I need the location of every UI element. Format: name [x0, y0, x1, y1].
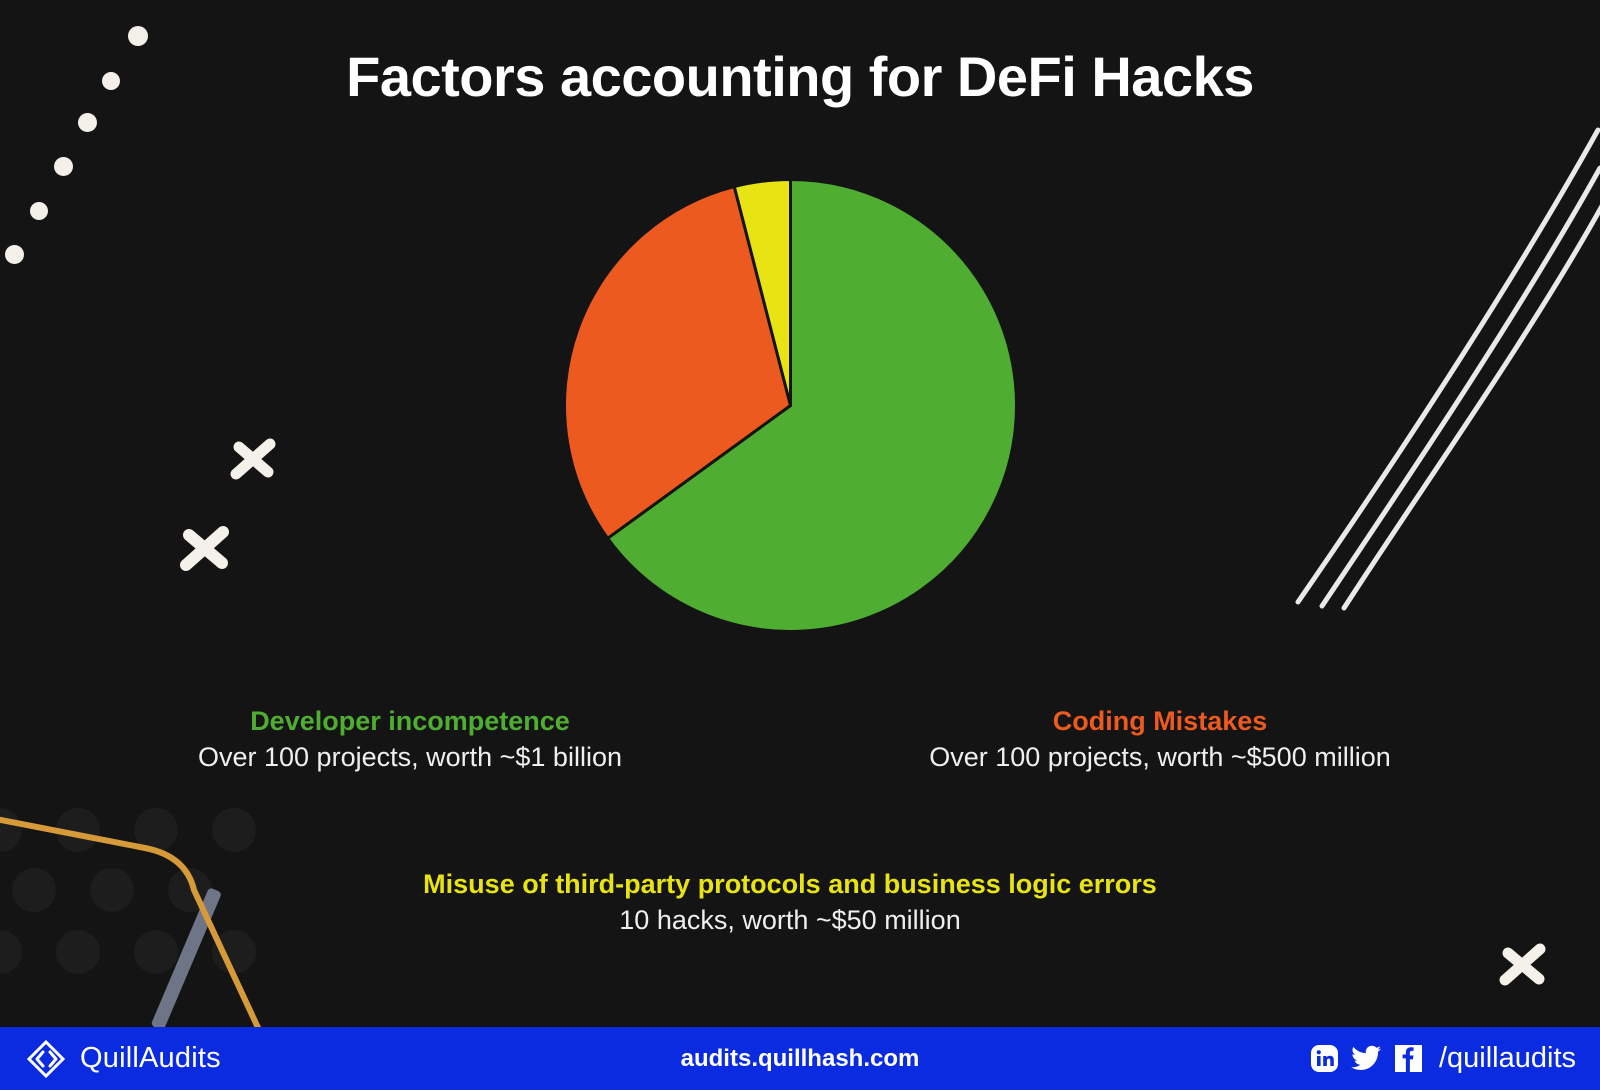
footer-bar: QuillAudits audits.quillhash.com /quilla… — [0, 1027, 1600, 1090]
decorative-gray-bar — [151, 887, 222, 1031]
pie-chart-svg — [563, 178, 1018, 633]
decorative-dot — [30, 202, 48, 220]
social-links: /quillaudits — [1311, 1042, 1576, 1075]
legend-label: Misuse of third-party protocols and busi… — [290, 868, 1290, 902]
decorative-diagonal-lines — [1270, 120, 1600, 620]
legend-coding-mistakes: Coding Mistakes Over 100 projects, worth… — [800, 705, 1520, 775]
social-handle[interactable]: /quillaudits — [1439, 1042, 1576, 1075]
infographic-canvas: Factors accounting for DeFi Hacks Develo… — [0, 0, 1600, 1090]
decorative-dot — [128, 26, 148, 46]
legend-detail: 10 hacks, worth ~$50 million — [290, 902, 1290, 938]
legend-label: Developer incompetence — [80, 705, 740, 739]
legend-developer-incompetence: Developer incompetence Over 100 projects… — [80, 705, 740, 775]
legend-detail: Over 100 projects, worth ~$500 million — [800, 739, 1520, 775]
decorative-dot — [54, 157, 73, 176]
legend-detail: Over 100 projects, worth ~$1 billion — [80, 739, 740, 775]
decorative-dot — [78, 113, 97, 132]
legend-label: Coding Mistakes — [800, 705, 1520, 739]
decorative-cross-icon — [172, 515, 238, 581]
decorative-dot-grid — [0, 798, 290, 1028]
decorative-dot — [5, 245, 24, 264]
decorative-corner-line — [0, 782, 320, 1032]
twitter-icon[interactable] — [1351, 1045, 1382, 1072]
page-title: Factors accounting for DeFi Hacks — [0, 46, 1600, 108]
decorative-dot-arc — [0, 0, 180, 280]
facebook-icon[interactable] — [1395, 1045, 1422, 1072]
pie-chart — [563, 178, 1018, 633]
legend-misuse-third-party: Misuse of third-party protocols and busi… — [290, 868, 1290, 938]
decorative-cross-icon — [1492, 934, 1554, 996]
linkedin-icon[interactable] — [1311, 1045, 1338, 1072]
decorative-cross-icon — [222, 428, 284, 490]
